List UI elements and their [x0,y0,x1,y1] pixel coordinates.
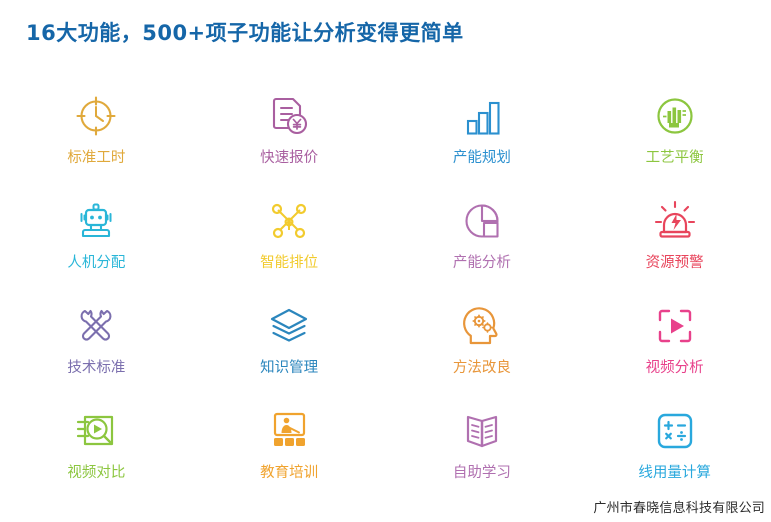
feature-item-classroom[interactable]: 教育培训 [193,397,386,502]
feature-item-document-yuan[interactable]: 快速报价 [193,82,386,187]
feature-label: 快速报价 [260,151,318,166]
feature-label: 产能分析 [453,256,511,271]
tools-icon [70,300,122,352]
alarm-siren-icon [649,195,701,247]
feature-item-circle-bars[interactable]: 工艺平衡 [578,82,771,187]
feature-item-clock[interactable]: 标准工时 [0,82,193,187]
video-compare-icon [70,405,122,457]
head-gears-icon [456,300,508,352]
feature-item-tools[interactable]: 技术标准 [0,292,193,397]
feature-label: 视频分析 [646,361,704,376]
layers-icon [263,300,315,352]
video-frame-play-icon [649,300,701,352]
feature-label: 线用量计算 [638,466,711,481]
feature-item-alarm-siren[interactable]: 资源预警 [578,187,771,292]
feature-label: 自助学习 [453,466,511,481]
feature-label: 工艺平衡 [646,151,704,166]
robot-icon [70,195,122,247]
feature-item-bar-chart[interactable]: 产能规划 [386,82,579,187]
feature-item-robot[interactable]: 人机分配 [0,187,193,292]
document-yuan-icon [263,90,315,142]
clock-icon [70,90,122,142]
feature-label: 资源预警 [646,256,704,271]
feature-label: 产能规划 [453,151,511,166]
classroom-icon [263,405,315,457]
feature-item-video-frame-play[interactable]: 视频分析 [578,292,771,397]
circle-bars-icon [649,90,701,142]
feature-label: 教育培训 [260,466,318,481]
feature-item-pie-chart[interactable]: 产能分析 [386,187,579,292]
feature-label: 知识管理 [260,361,318,376]
watermark: 广州市春晓信息科技有限公司 [593,497,765,516]
feature-item-node-network[interactable]: 智能排位 [193,187,386,292]
feature-grid: 标准工时 快速报价 产能规划 工艺平衡 人机分配 智能排位 [0,82,771,502]
feature-item-calculator[interactable]: 线用量计算 [578,397,771,502]
feature-label: 方法改良 [453,361,511,376]
feature-label: 技术标准 [67,361,125,376]
feature-item-head-gears[interactable]: 方法改良 [386,292,579,397]
feature-label: 标准工时 [67,151,125,166]
feature-label: 视频对比 [67,466,125,481]
feature-item-video-compare[interactable]: 视频对比 [0,397,193,502]
open-book-icon [456,405,508,457]
node-network-icon [263,195,315,247]
feature-item-layers[interactable]: 知识管理 [193,292,386,397]
pie-chart-icon [456,195,508,247]
calculator-icon [649,405,701,457]
page-title: 16大功能，500+项子功能让分析变得更简单 [26,17,464,47]
feature-label: 智能排位 [260,256,318,271]
feature-label: 人机分配 [67,256,125,271]
bar-chart-icon [456,90,508,142]
feature-item-open-book[interactable]: 自助学习 [386,397,579,502]
